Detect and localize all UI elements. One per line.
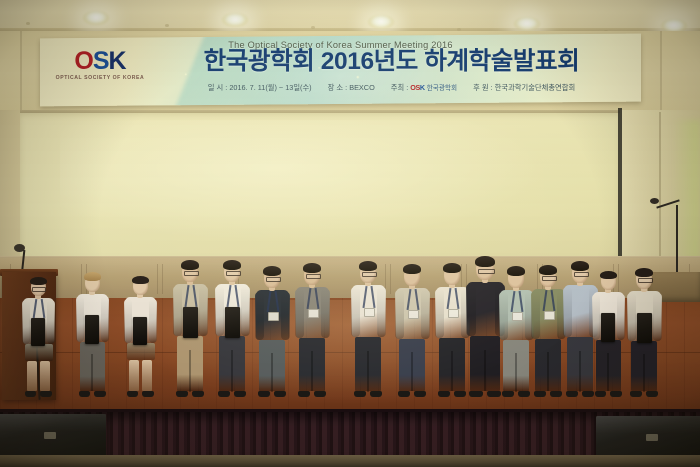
person-14-shoe-right bbox=[582, 391, 594, 397]
banner-date: 일 시 : 2016. 7. 11(월) ~ 13일(수) bbox=[208, 83, 312, 92]
person-6-arm-left bbox=[255, 292, 264, 340]
person-5-shoe-right bbox=[234, 391, 246, 397]
person-3-arm-left bbox=[124, 299, 132, 343]
person-1-arm-left bbox=[22, 300, 30, 344]
person-12-hair bbox=[507, 266, 525, 276]
person-2-arm-left bbox=[76, 296, 84, 342]
person-10-leg-gap bbox=[451, 351, 453, 391]
banner-host-label: 주최 : bbox=[391, 83, 408, 92]
person-15-hair-top bbox=[600, 271, 617, 279]
person-15-arm-left bbox=[592, 294, 600, 340]
person-6-glasses bbox=[266, 277, 281, 282]
person-5-hair bbox=[223, 260, 241, 270]
event-banner: OSK OPTICAL SOCIETY OF KOREA The Optical… bbox=[40, 34, 641, 107]
person-7-shoe-left bbox=[298, 391, 310, 397]
person-1-arm-right bbox=[47, 300, 55, 344]
wall-seam-right bbox=[660, 31, 662, 113]
person-7-hair bbox=[303, 263, 321, 273]
banner-host-logo-os: OS bbox=[410, 83, 420, 92]
banner-place: 장 소 : BEXCO bbox=[328, 83, 375, 92]
person-7-leg-gap bbox=[311, 351, 313, 391]
banner-host-logo-k: K bbox=[420, 83, 425, 92]
ceiling-light-1 bbox=[83, 11, 109, 25]
ceiling-light-4 bbox=[514, 17, 540, 31]
person-10-arm-left bbox=[435, 289, 444, 338]
person-2-shoe-right bbox=[94, 391, 106, 397]
floor-carpet bbox=[0, 455, 700, 467]
projection-screen bbox=[20, 113, 620, 260]
person-10-hair bbox=[443, 263, 461, 273]
person-8-name-badge bbox=[364, 308, 375, 317]
banner-sponsor-label: 후 원 : bbox=[473, 83, 493, 92]
person-5-arm-right bbox=[241, 286, 250, 336]
banner-place-value: BEXCO bbox=[349, 83, 375, 92]
person-14-arm-left bbox=[563, 287, 572, 337]
conference-photo: OSK OPTICAL SOCIETY OF KOREA The Optical… bbox=[0, 0, 700, 467]
osk-letter-k: K bbox=[109, 47, 126, 75]
person-9-leg-gap bbox=[411, 352, 413, 391]
osk-logo-letters: OSK bbox=[54, 48, 146, 74]
person-1-shoe-left bbox=[25, 391, 37, 397]
person-7-arm-left bbox=[295, 289, 304, 338]
person-5-arm-left bbox=[215, 286, 224, 336]
person-11-arm-left bbox=[466, 284, 476, 336]
person-2-hair bbox=[84, 272, 101, 281]
screen-edge-bar bbox=[618, 108, 622, 263]
ceiling-fixture-dot-1 bbox=[26, 22, 30, 25]
person-2-arm-right bbox=[101, 296, 109, 342]
person-3-skirt bbox=[127, 343, 155, 360]
person-10-name-badge bbox=[448, 309, 459, 318]
person-3-arm-right bbox=[149, 299, 157, 343]
person-3-award-plaque bbox=[133, 317, 147, 345]
person-13-glasses bbox=[542, 276, 557, 281]
person-12-leg-gap bbox=[515, 353, 517, 392]
person-13-leg-gap bbox=[547, 352, 549, 391]
person-15-leg-gap bbox=[607, 353, 609, 391]
person-8-hair bbox=[359, 261, 377, 271]
person-12-arm-left bbox=[499, 292, 508, 340]
person-3-leg-left bbox=[129, 360, 139, 391]
person-16-arm-right bbox=[653, 293, 662, 341]
person-4-glasses bbox=[184, 271, 199, 276]
person-11-glasses bbox=[478, 269, 495, 274]
person-5-leg-gap bbox=[231, 350, 233, 392]
person-1-leg-left bbox=[27, 361, 37, 391]
banner-host-value: 한국광학회 bbox=[427, 85, 457, 92]
banner-sponsor-value: 한국과학기술단체총연합회 bbox=[495, 83, 576, 92]
person-16-award-plaque bbox=[637, 313, 652, 343]
person-10-shoe-right bbox=[454, 391, 466, 397]
person-16-leg-gap bbox=[643, 354, 645, 392]
person-16-hair-top bbox=[635, 268, 653, 277]
banner-place-label: 장 소 : bbox=[328, 83, 348, 92]
person-9-arm-left bbox=[395, 290, 404, 339]
person-15-shoe-left bbox=[595, 391, 607, 397]
person-13-arm-left bbox=[531, 291, 540, 339]
person-13-name-badge bbox=[544, 311, 555, 320]
person-14-shoe-left bbox=[566, 391, 578, 397]
person-6-leg-gap bbox=[271, 353, 273, 392]
person-11-shoe-right bbox=[487, 391, 501, 397]
person-14-glasses bbox=[574, 272, 589, 277]
person-2-shoe-left bbox=[79, 391, 91, 397]
person-13-shoe-right bbox=[550, 391, 562, 397]
person-16-shoe-right bbox=[646, 391, 658, 397]
speaker-left-badge bbox=[44, 432, 56, 439]
banner-date-value: 2016. 7. 11(월) ~ 13일(수) bbox=[229, 83, 311, 92]
person-5-award-plaque bbox=[225, 307, 240, 338]
person-12-shoe-left bbox=[502, 391, 514, 397]
person-7-shoe-right bbox=[314, 391, 326, 397]
person-2-leg-gap bbox=[91, 354, 93, 391]
person-8-shoe-left bbox=[354, 391, 366, 397]
person-4-shoe-right bbox=[192, 391, 204, 397]
person-1-shoe-right bbox=[40, 391, 52, 397]
person-9-arm-right bbox=[421, 290, 430, 339]
person-6-name-badge bbox=[268, 312, 279, 321]
osk-letter-o: O bbox=[74, 47, 92, 75]
person-9-name-badge bbox=[408, 310, 419, 319]
person-14-hair bbox=[571, 261, 589, 271]
ceiling-fixture-dot-3 bbox=[311, 26, 315, 29]
ceiling-light-3 bbox=[368, 15, 394, 29]
person-13-hair bbox=[539, 265, 557, 275]
person-1-award-plaque bbox=[31, 318, 45, 346]
person-11-hair bbox=[475, 256, 495, 267]
osk-logo: OSK OPTICAL SOCIETY OF KOREA bbox=[54, 48, 146, 92]
person-8-glasses bbox=[362, 272, 377, 277]
banner-sponsor: 후 원 : 한국과학기술단체총연합회 bbox=[473, 83, 575, 92]
person-7-arm-right bbox=[321, 289, 330, 338]
person-16-glasses bbox=[638, 278, 653, 283]
person-4-hair bbox=[181, 260, 199, 270]
wall-seam-left bbox=[20, 31, 22, 113]
person-6-arm-right bbox=[281, 292, 290, 340]
banner-details: 일 시 : 2016. 7. 11(월) ~ 13일(수) 장 소 : BEXC… bbox=[150, 82, 633, 93]
person-6-shoe-right bbox=[274, 391, 286, 397]
banner-host: 주최 : OSK 한국광학회 bbox=[391, 83, 457, 92]
person-5-shoe-left bbox=[218, 391, 230, 397]
person-4-arm-right bbox=[199, 286, 208, 336]
osk-letter-s: S bbox=[93, 47, 109, 75]
person-8-arm-left bbox=[351, 287, 360, 337]
osk-logo-subtitle: OPTICAL SOCIETY OF KOREA bbox=[53, 75, 148, 81]
person-4-arm-left bbox=[173, 286, 182, 336]
mic-stand-head bbox=[650, 198, 659, 204]
person-4-leg-gap bbox=[189, 350, 191, 392]
person-8-arm-right bbox=[377, 287, 386, 337]
person-3-leg-right bbox=[142, 360, 152, 391]
ceiling-light-2 bbox=[222, 13, 248, 27]
person-3-shoe-left bbox=[127, 391, 139, 397]
person-16-arm-left bbox=[627, 293, 636, 341]
person-8-shoe-right bbox=[370, 391, 382, 397]
person-3-hair-top bbox=[132, 276, 149, 284]
right-wall-seam bbox=[659, 112, 661, 272]
person-6-shoe-left bbox=[258, 391, 270, 397]
person-9-hair bbox=[403, 264, 421, 274]
person-1-skirt bbox=[25, 344, 53, 361]
person-6-hair bbox=[263, 266, 281, 276]
person-8-leg-gap bbox=[367, 351, 369, 392]
person-4-award-plaque bbox=[183, 307, 198, 338]
person-15-shoe-right bbox=[610, 391, 622, 397]
ceiling-fixture-dot-2 bbox=[165, 24, 169, 27]
banner-korean-title: 한국광학회 2016년도 하계학술발표회 bbox=[150, 49, 633, 75]
person-9-shoe-left bbox=[398, 391, 410, 397]
speaker-right bbox=[596, 416, 700, 460]
person-11-shoe-left bbox=[469, 391, 483, 397]
person-10-shoe-left bbox=[438, 391, 450, 397]
person-11-leg-gap bbox=[484, 350, 486, 391]
person-12-shoe-right bbox=[518, 391, 530, 397]
person-4-shoe-left bbox=[176, 391, 188, 397]
person-13-shoe-left bbox=[534, 391, 546, 397]
person-1-hair-top bbox=[30, 277, 47, 285]
person-1-leg-right bbox=[40, 361, 50, 391]
speaker-left bbox=[0, 414, 106, 458]
banner-date-label: 일 시 : bbox=[208, 83, 228, 92]
banner-host-logo: OSK bbox=[410, 83, 424, 92]
person-1-glasses bbox=[32, 287, 46, 292]
person-16-shoe-left bbox=[630, 391, 642, 397]
person-15-arm-right bbox=[617, 294, 625, 340]
person-5-glasses bbox=[226, 271, 241, 276]
person-12-name-badge bbox=[512, 312, 523, 321]
person-9-shoe-right bbox=[414, 391, 426, 397]
person-3-shoe-right bbox=[142, 391, 154, 397]
person-7-name-badge bbox=[308, 309, 319, 318]
person-15-award-plaque bbox=[601, 313, 615, 342]
person-14-leg-gap bbox=[579, 351, 581, 392]
person-7-glasses bbox=[306, 274, 321, 279]
person-2-award-plaque bbox=[85, 315, 99, 344]
speaker-right-badge bbox=[646, 434, 658, 441]
